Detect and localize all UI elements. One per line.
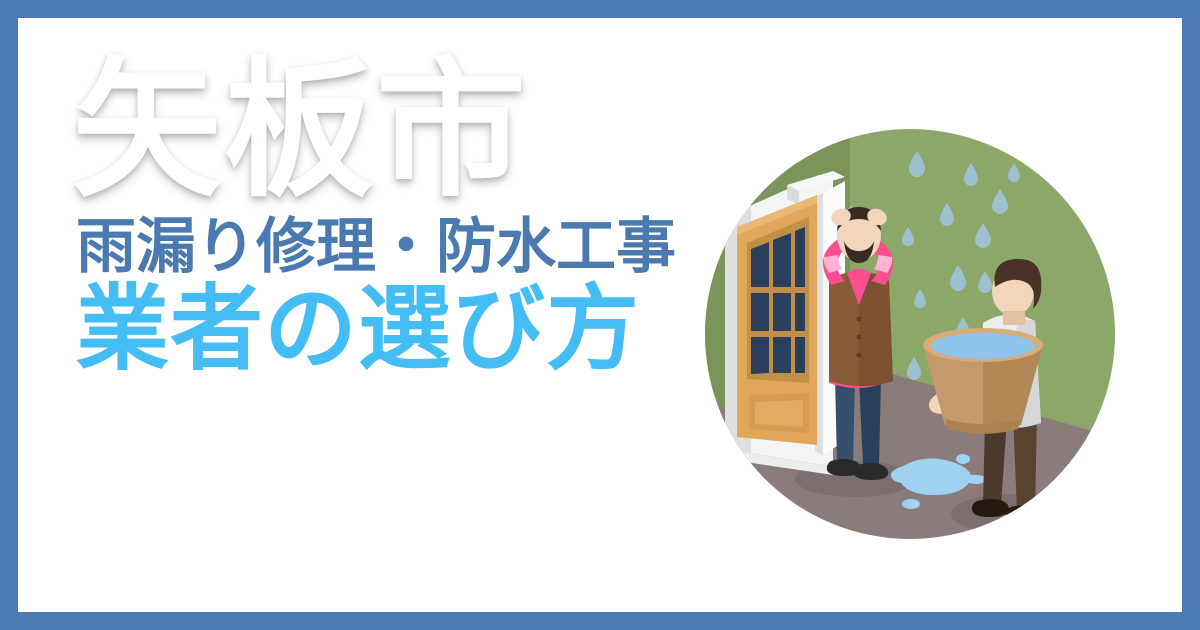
door-pane <box>773 337 791 373</box>
door-pane <box>795 227 805 287</box>
subtitle-service: 雨漏り修理・防水工事 <box>58 216 718 279</box>
door-pane <box>795 293 805 331</box>
man1-vest-button <box>856 352 861 357</box>
floor-shadow-man2 <box>951 494 1075 534</box>
leaking-roof-illustration <box>695 119 1125 549</box>
man2-shoe-front <box>1006 505 1043 523</box>
wooden-door <box>725 171 845 475</box>
headline-block: 矢板市 雨漏り修理・防水工事 業者の選び方 <box>58 56 718 379</box>
door-pane <box>795 337 805 373</box>
puddle-droplet <box>902 499 920 509</box>
bucket-water <box>931 333 1035 359</box>
door-pane <box>773 293 791 331</box>
banner-root: 矢板市 雨漏り修理・防水工事 業者の選び方 <box>0 0 1200 630</box>
door-pane <box>751 337 769 374</box>
door-pane <box>751 242 769 287</box>
banner-inner-panel: 矢板市 雨漏り修理・防水工事 業者の選び方 <box>18 18 1182 612</box>
lead-how-to-choose: 業者の選び方 <box>58 281 718 379</box>
man2-neck <box>1003 311 1025 325</box>
door-pane <box>751 293 769 331</box>
page-title-city: 矢板市 <box>58 56 718 206</box>
man1-leg-left <box>835 377 855 463</box>
man2-leg-front <box>1013 415 1037 511</box>
man1-vest-button <box>856 316 861 321</box>
puddle-droplet <box>956 454 970 464</box>
man2-shoe-back <box>972 499 1009 517</box>
door-bottom-panel-inner <box>755 400 803 427</box>
door-pane <box>773 233 791 287</box>
man1-vest-button <box>856 334 861 339</box>
